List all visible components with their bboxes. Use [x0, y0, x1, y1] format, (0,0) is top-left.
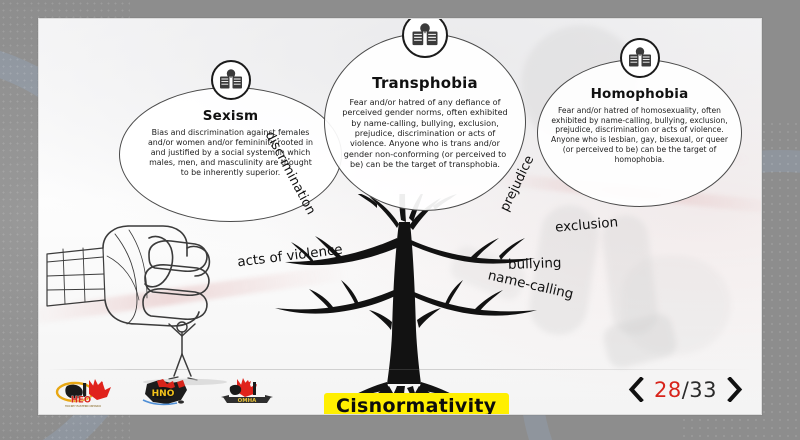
bubble-title: Homophobia: [538, 86, 741, 102]
logo-hno: HNO: [137, 378, 193, 408]
logo-heo: HEO HOCKEY EASTERN ONTARIO: [55, 378, 111, 408]
hockey-glove-fist-illustration: [45, 204, 260, 389]
branch-label-bullying: bullying: [508, 255, 562, 273]
bubble-title: Sexism: [120, 108, 341, 124]
chevron-left-icon[interactable]: [628, 377, 645, 402]
concept-bubble-homophobia[interactable]: Homophobia Fear and/or hatred of homosex…: [537, 59, 742, 207]
svg-text:HNO: HNO: [152, 389, 175, 399]
open-book-person-icon: [211, 60, 251, 100]
page-current: 28: [654, 378, 682, 402]
slide-viewer: Sexism Bias and discrimination against f…: [0, 0, 800, 440]
branch-label-exclusion: exclusion: [554, 214, 618, 235]
root-label-cisnormativity: Cisnormativity: [324, 393, 509, 415]
open-book-person-icon: [620, 38, 660, 78]
bubble-body: Fear and/or hatred of any defiance of pe…: [325, 92, 525, 170]
footer-divider: [47, 369, 753, 370]
branch-label-acts-of-violence: acts of violence: [236, 242, 343, 271]
page-total: 33: [689, 378, 717, 402]
bare-tree-silhouette: [249, 194, 579, 415]
bubble-title: Transphobia: [325, 74, 525, 92]
bubble-body: Bias and discrimination against females …: [120, 124, 341, 179]
photo-streak: [38, 264, 349, 326]
sponsor-logo-strip: HEO HOCKEY EASTERN ONTARIO HNO: [55, 378, 275, 408]
background-photo-ghost: [601, 311, 680, 371]
page-navigation[interactable]: 28/33: [628, 377, 743, 402]
page-counter: 28/33: [654, 378, 717, 402]
svg-text:OMHA: OMHA: [238, 398, 257, 404]
slide-canvas: Sexism Bias and discrimination against f…: [38, 18, 762, 415]
logo-omha: OMHA: [219, 378, 275, 408]
chevron-right-icon[interactable]: [726, 377, 743, 402]
concept-bubble-transphobia[interactable]: Transphobia Fear and/or hatred of any de…: [324, 33, 526, 211]
svg-text:HOCKEY EASTERN ONTARIO: HOCKEY EASTERN ONTARIO: [65, 404, 101, 408]
svg-text:HEO: HEO: [71, 396, 91, 406]
bubble-body: Fear and/or hatred of homosexuality, oft…: [538, 102, 741, 164]
background-photo-ghost: [600, 213, 660, 338]
branch-label-name-calling: name-calling: [486, 267, 575, 302]
background-photo-ghost: [621, 255, 731, 355]
open-book-person-icon: [402, 18, 448, 58]
